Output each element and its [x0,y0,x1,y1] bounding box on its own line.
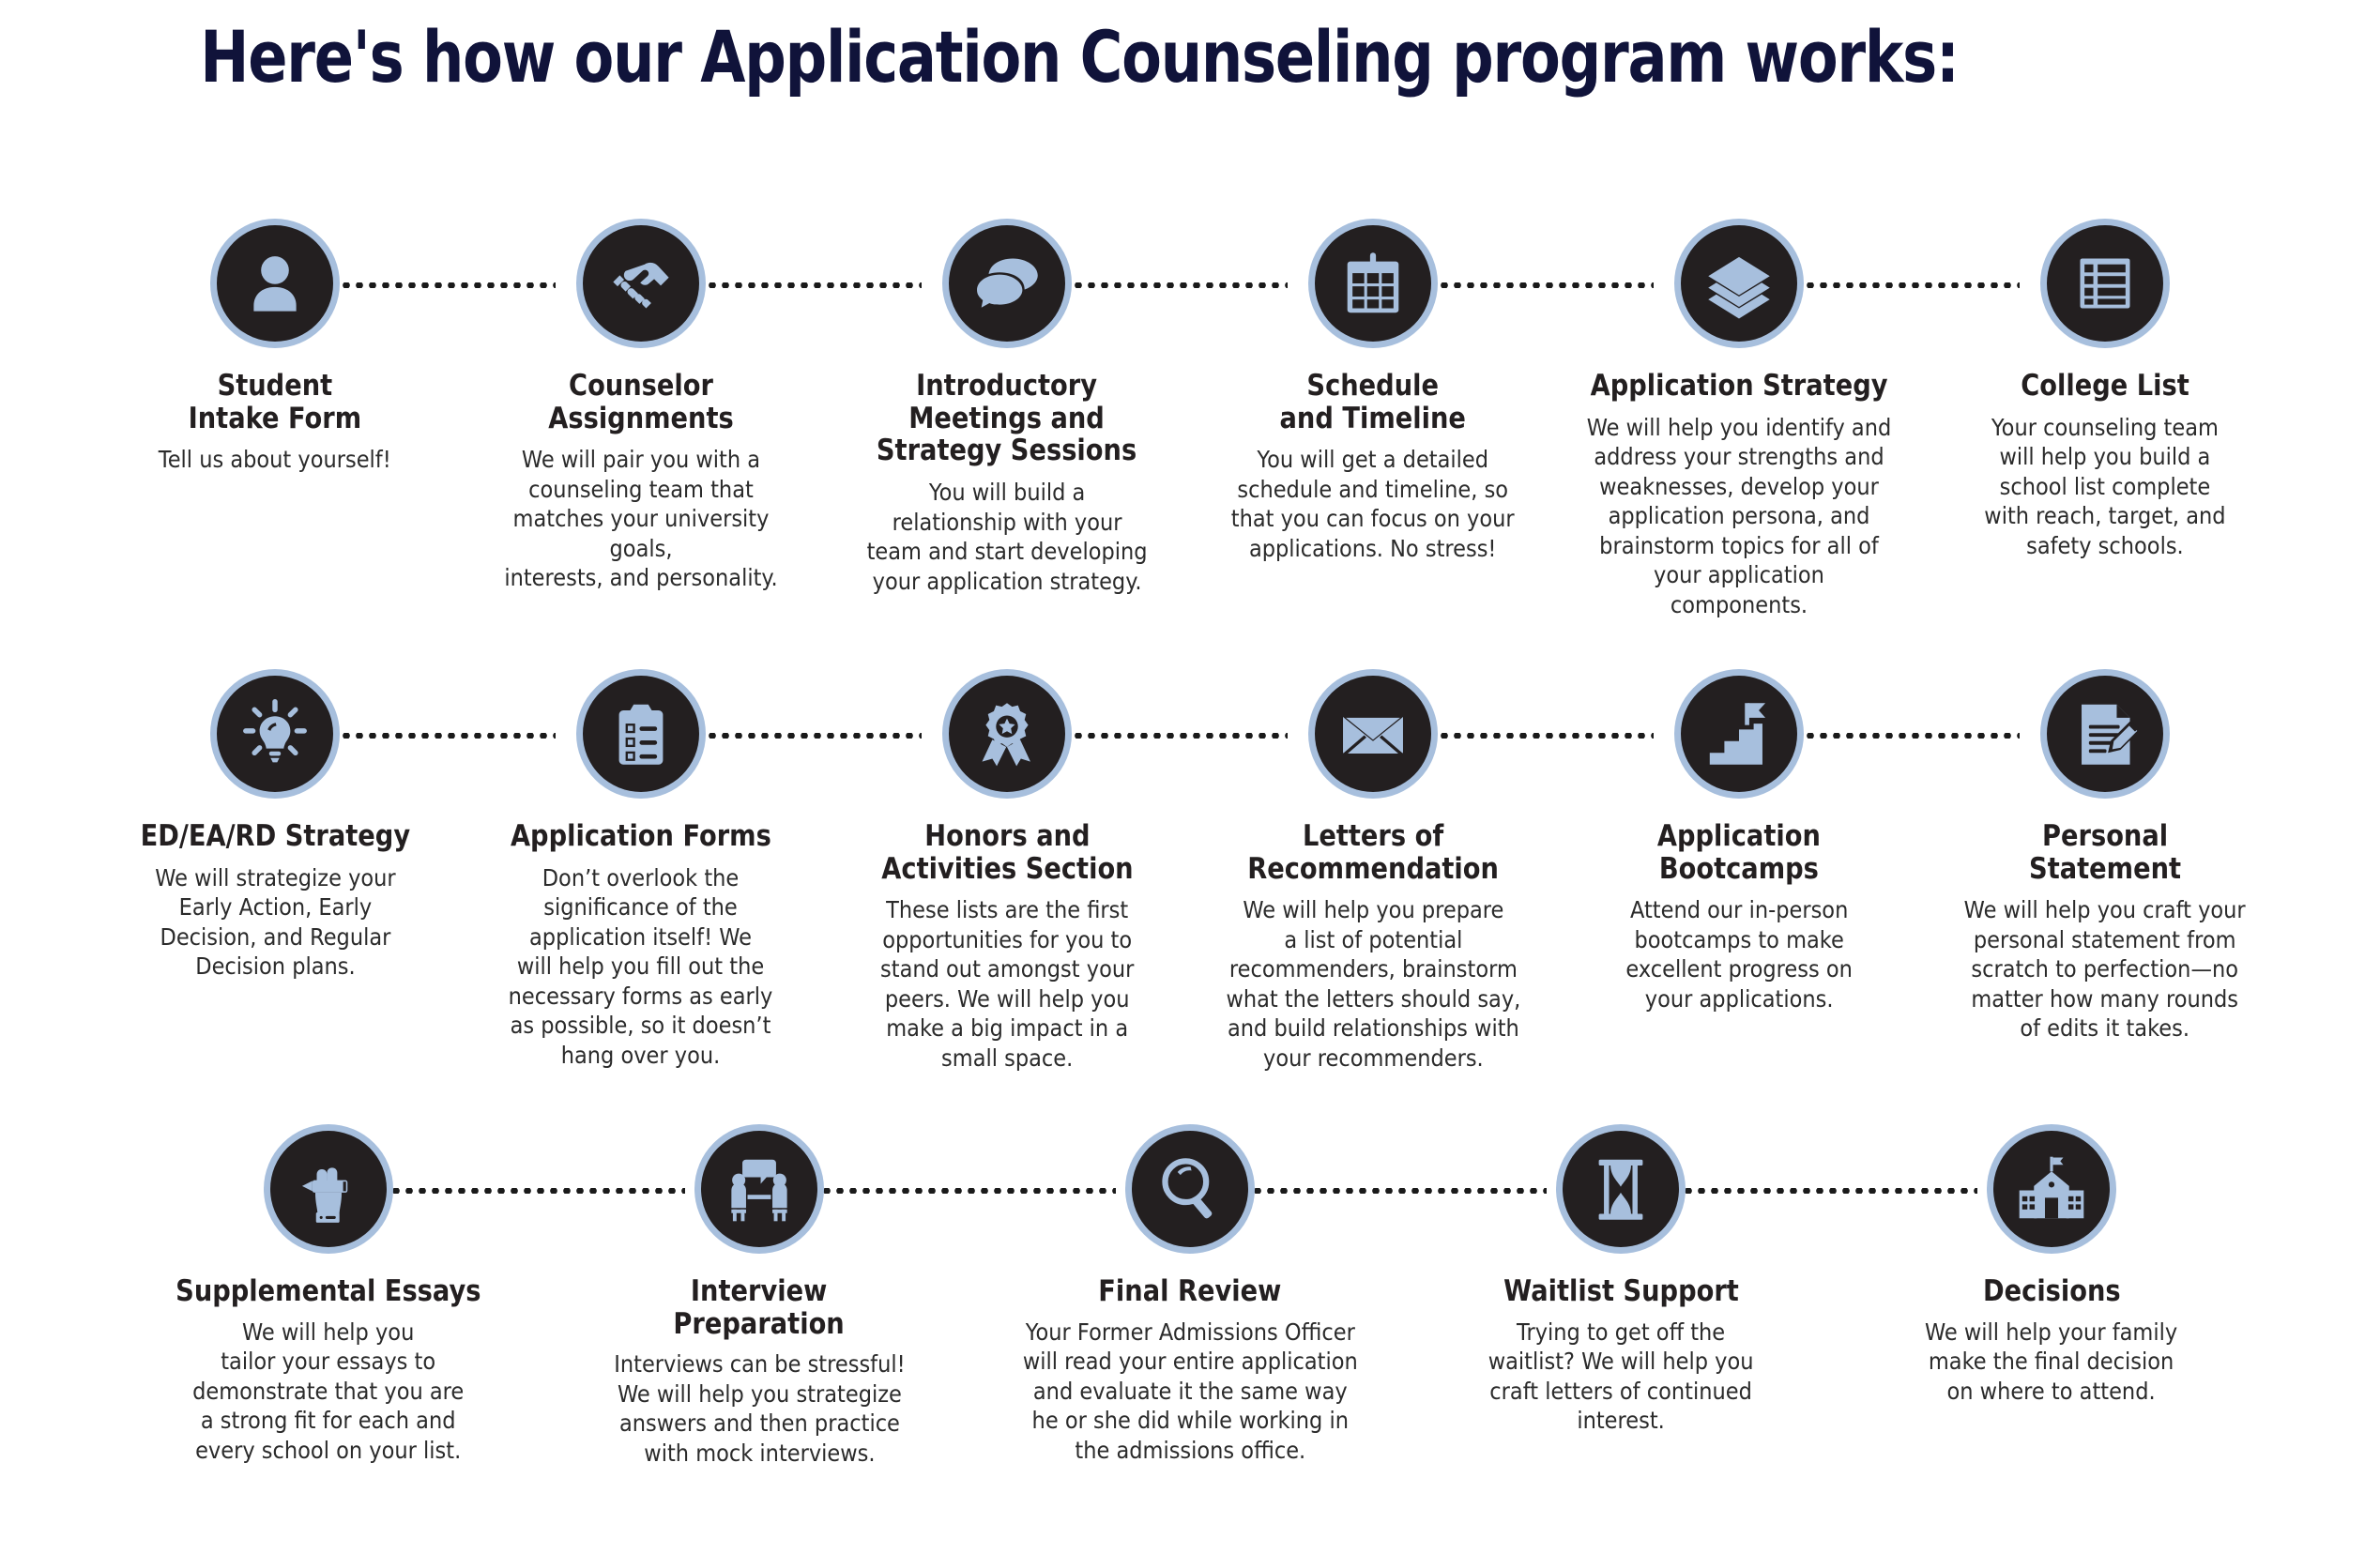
envelope-icon [1336,697,1410,770]
step-ed-ea-rd-strategy[interactable]: ED/EA/RD Strategy We will strategize you… [105,676,445,982]
step-waitlist-support[interactable]: Waitlist Support Trying to get off the w… [1433,1131,1808,1436]
step-description: We will help you prepare a list of poten… [1226,895,1520,1073]
step-decisions[interactable]: Decisions We will help your family make … [1864,1131,2239,1406]
badge-honors-and-activities[interactable] [949,676,1065,792]
step-description: Don’t overlook the significance of the a… [509,863,773,1071]
badge-application-bootcamps[interactable] [1681,676,1797,792]
step-heading: Honors and Activities Section [881,820,1133,885]
badge-personal-statement[interactable] [2047,676,2163,792]
badge-decisions[interactable] [1993,1131,2110,1247]
step-application-forms[interactable]: Application Forms Don’t overlook the sig… [471,676,811,1070]
badge-application-forms[interactable] [583,676,699,792]
fist-pencil-icon [292,1152,365,1226]
step-heading: Application Forms [511,820,771,853]
step-heading: Waitlist Support [1503,1275,1739,1308]
step-application-bootcamps[interactable]: Application Bootcamps Attend our in-pers… [1569,676,1909,1013]
step-honors-and-activities[interactable]: Honors and Activities Section These list… [837,676,1177,1073]
step-final-review[interactable]: Final Review Your Former Admissions Offi… [1002,1131,1378,1465]
step-description: These lists are the first opportunities … [880,895,1134,1073]
clipboard-checklist-icon [604,697,678,770]
step-college-list[interactable]: College List Your counseling team will h… [1935,225,2275,560]
lightbulb-icon [238,697,312,770]
step-description: Tell us about yourself! [159,445,391,475]
handshake-icon [604,247,678,320]
step-description: Trying to get off the waitlist? We will … [1488,1318,1754,1436]
step-counselor-assignments[interactable]: Counselor Assignments We will pair you w… [471,225,811,593]
badge-ed-ea-rd-strategy[interactable] [217,676,333,792]
step-heading: ED/EA/RD Strategy [140,820,410,853]
award-ribbon-icon [970,697,1044,770]
interview-people-icon [723,1152,796,1226]
badge-application-strategy[interactable] [1681,225,1797,342]
step-application-strategy[interactable]: Application Strategy We will help you id… [1569,225,1909,619]
person-avatar-icon [238,247,312,320]
document-pencil-icon [2068,697,2142,770]
step-description: Interviews can be stressful! We will hel… [614,1349,905,1468]
step-personal-statement[interactable]: Personal Statement We will help you craf… [1935,676,2275,1044]
list-grid-icon [2068,247,2142,320]
badge-college-list[interactable] [2047,225,2163,342]
step-heading: Schedule and Timeline [1280,370,1466,434]
speech-bubbles-icon [970,247,1044,320]
badge-schedule-and-timeline[interactable] [1315,225,1431,342]
badge-interview-preparation[interactable] [701,1131,817,1247]
step-description: You will get a detailed schedule and tim… [1231,445,1515,563]
process-row-2: ED/EA/RD Strategy We will strategize you… [0,676,2380,1073]
badge-supplemental-essays[interactable] [270,1131,387,1247]
magnifying-glass-icon [1153,1152,1227,1226]
step-schedule-and-timeline[interactable]: Schedule and Timeline You will get a det… [1203,225,1543,563]
badge-final-review[interactable] [1132,1131,1248,1247]
step-heading: Letters of Recommendation [1247,820,1499,885]
layers-stack-icon [1702,247,1776,320]
step-heading: Student Intake Form [189,370,362,434]
step-heading: Interview Preparation [674,1275,845,1340]
step-description: We will help you identify and address yo… [1586,413,1892,620]
step-description: We will pair you with a counseling team … [488,445,794,593]
process-row-1: Student Intake Form Tell us about yourse… [0,225,2380,619]
badge-counselor-assignments[interactable] [583,225,699,342]
step-interview-preparation[interactable]: Interview Preparation Interviews can be … [572,1131,947,1468]
step-heading: Supplemental Essays [175,1275,481,1308]
step-description: We will help you craft your personal sta… [1964,895,2246,1044]
badge-student-intake-form[interactable] [217,225,333,342]
step-description: We will help you tailor your essays to d… [192,1318,464,1466]
badge-waitlist-support[interactable] [1563,1131,1679,1247]
step-description: We will help your family make the final … [1925,1318,2177,1407]
infographic-page: Here's how our Application Counseling pr… [0,0,2380,1554]
step-heading: Final Review [1098,1275,1281,1308]
step-supplemental-essays[interactable]: Supplemental Essays We will help you tai… [141,1131,516,1465]
calendar-icon [1336,247,1410,320]
step-description: We will strategize your Early Action, Ea… [155,863,395,982]
step-description: Attend our in-person bootcamps to make e… [1625,895,1852,1013]
page-title: Here's how our Application Counseling pr… [194,15,1964,99]
step-heading: Application Bootcamps [1657,820,1821,885]
step-heading: Decisions [1983,1275,2121,1308]
step-heading: Counselor Assignments [492,370,791,434]
hourglass-icon [1584,1152,1657,1226]
school-building-icon [2015,1152,2088,1226]
stairs-flag-icon [1702,697,1776,770]
step-heading: College List [2021,370,2189,403]
step-description: You will build a relationship with your … [867,478,1148,596]
step-heading: Introductory Meetings and Strategy Sessi… [877,370,1137,467]
step-heading: Application Strategy [1591,370,1888,403]
badge-letters-of-recommendation[interactable] [1315,676,1431,792]
step-description: Your counseling team will help you build… [1984,413,2225,561]
step-student-intake-form[interactable]: Student Intake Form Tell us about yourse… [105,225,445,475]
step-letters-of-recommendation[interactable]: Letters of Recommendation We will help y… [1203,676,1543,1073]
step-heading: Personal Statement [2029,820,2181,885]
badge-introductory-meetings[interactable] [949,225,1065,342]
step-introductory-meetings[interactable]: Introductory Meetings and Strategy Sessi… [837,225,1177,596]
process-row-3: Supplemental Essays We will help you tai… [0,1131,2380,1468]
step-description: Your Former Admissions Officer will read… [1023,1318,1358,1466]
